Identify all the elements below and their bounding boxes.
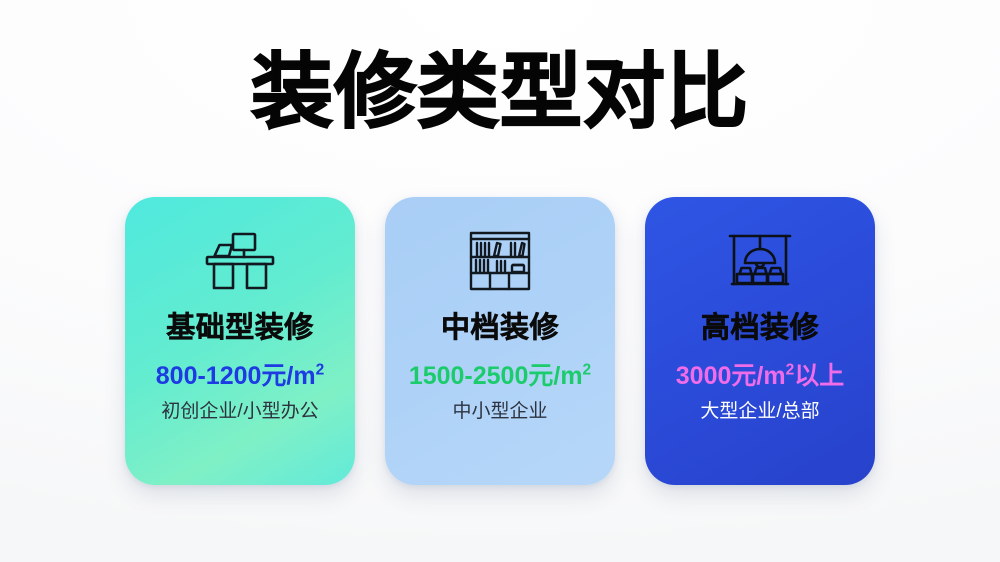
card-basic-decoration[interactable]: 基础型装修 800-1200元/m2 初创企业/小型办公 [125, 197, 355, 485]
card-price: 1500-2500元/m2 [409, 363, 591, 391]
card-price-main: 1500-2500元/m [409, 362, 583, 390]
card-subtitle: 初创企业/小型办公 [161, 401, 318, 424]
card-title: 基础型装修 [166, 313, 314, 345]
page-title: 装修类型对比 [0, 52, 1000, 134]
card-subtitle: 中小型企业 [452, 401, 547, 424]
comparison-card-row: 基础型装修 800-1200元/m2 初创企业/小型办公 [0, 197, 1000, 485]
card-midrange-decoration[interactable]: 中档装修 1500-2500元/m2 中小型企业 [385, 197, 615, 485]
bookshelf-icon [467, 225, 533, 297]
slide-canvas: 装修类型对比 基础型装修 [0, 0, 1000, 562]
card-price-main: 3000元/m [676, 362, 786, 390]
card-premium-decoration[interactable]: 高档装修 3000元/m2以上 大型企业/总部 [645, 197, 875, 485]
card-price-superscript: 2 [583, 362, 592, 379]
card-price: 800-1200元/m2 [156, 363, 324, 391]
card-subtitle: 大型企业/总部 [700, 401, 819, 424]
card-price-superscript: 2 [786, 362, 795, 379]
card-title: 中档装修 [441, 313, 559, 345]
card-price: 3000元/m2以上 [676, 363, 844, 391]
card-title: 高档装修 [701, 313, 819, 345]
office-desk-icon [201, 225, 279, 297]
card-price-superscript: 2 [316, 362, 325, 379]
conference-room-lamp-icon [723, 225, 797, 297]
card-price-suffix: 以上 [794, 362, 844, 390]
card-price-main: 800-1200元/m [156, 362, 316, 390]
